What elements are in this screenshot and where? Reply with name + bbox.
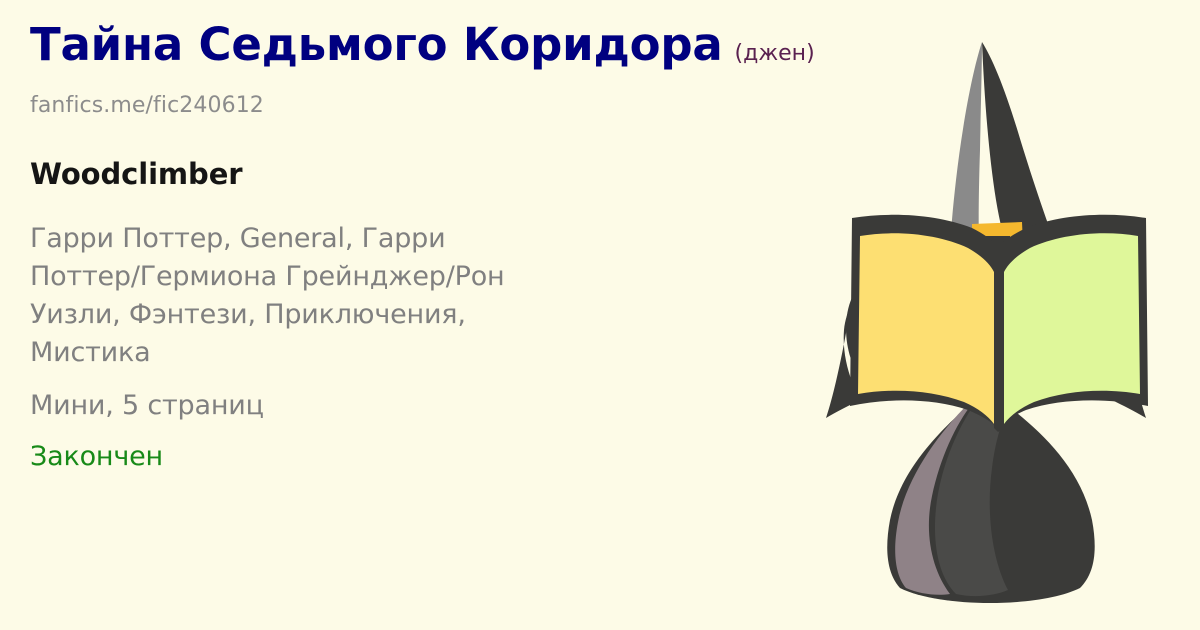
status-badge: Закончен xyxy=(30,438,163,476)
title-row: Тайна Седьмого Коридора(джен) xyxy=(30,16,820,74)
metadata-line: Поттер/Гермиона Грейнджер/Рон xyxy=(30,258,760,296)
text-column: Тайна Седьмого Коридора(джен) fanfics.me… xyxy=(30,0,790,630)
size-and-pages: Мини, 5 страниц xyxy=(30,387,264,425)
social-preview-card: Тайна Седьмого Коридора(джен) fanfics.me… xyxy=(0,0,1200,630)
book-group xyxy=(850,215,1148,432)
robe-body-group xyxy=(887,400,1094,603)
wizard-reading-book-illustration xyxy=(760,0,1200,630)
book-spine xyxy=(994,270,1004,432)
page-title: Тайна Седьмого Коридора xyxy=(30,18,723,71)
metadata-line: Уизли, Фэнтези, Приключения, xyxy=(30,296,760,334)
metadata-block: Гарри Поттер, General, Гарри Поттер/Герм… xyxy=(30,220,760,372)
metadata-line: Гарри Поттер, General, Гарри xyxy=(30,220,760,258)
author-name[interactable]: Woodclimber xyxy=(30,156,242,192)
metadata-line: Мистика xyxy=(30,334,760,372)
source-url[interactable]: fanfics.me/fic240612 xyxy=(30,92,264,120)
